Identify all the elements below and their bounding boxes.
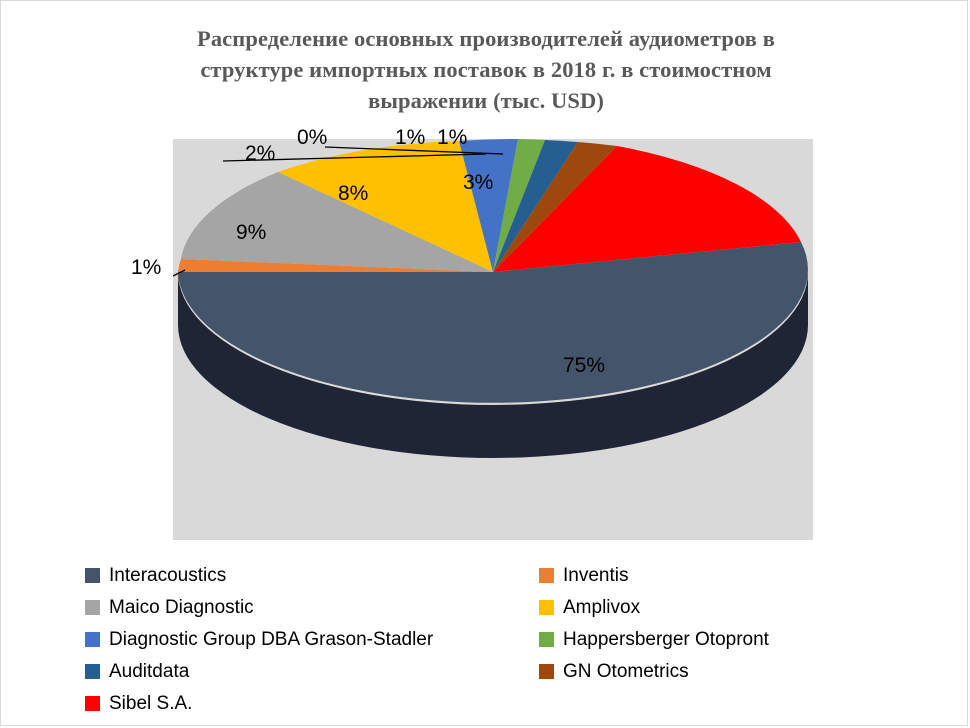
- legend-label: Auditdata: [109, 662, 189, 681]
- data-label-amplivox: 8%: [338, 182, 368, 206]
- legend-item-auditdata[interactable]: Auditdata: [85, 655, 535, 687]
- plot-area: 75% 1% 9% 8% 2% 0% 1% 1% 3%: [173, 139, 813, 540]
- data-label-auditdata: 1%: [395, 126, 425, 150]
- legend-item-grason-stadler[interactable]: Diagnostic Group DBA Grason-Stadler: [85, 623, 535, 655]
- legend-item-amplivox[interactable]: Amplivox: [539, 591, 939, 623]
- data-label-interacoustics: 75%: [563, 354, 605, 378]
- legend-swatch-icon: [539, 632, 554, 647]
- legend-swatch-icon: [539, 568, 554, 583]
- data-label-grason-stadler: 2%: [245, 142, 275, 166]
- data-label-sibel: 3%: [463, 171, 493, 195]
- legend-swatch-icon: [539, 600, 554, 615]
- data-label-happersberger: 0%: [297, 126, 327, 150]
- legend-swatch-icon: [85, 632, 100, 647]
- legend-label: Maico Diagnostic: [109, 598, 254, 617]
- chart-container: Распределение основных производителей ау…: [0, 0, 968, 726]
- legend-label: Interacoustics: [109, 566, 226, 585]
- data-label-gn-otometrics: 1%: [437, 126, 467, 150]
- legend-swatch-icon: [85, 696, 100, 711]
- legend-label: Diagnostic Group DBA Grason-Stadler: [109, 630, 433, 649]
- legend-label: GN Otometrics: [563, 662, 689, 681]
- legend-swatch-icon: [85, 664, 100, 679]
- legend-item-inventis[interactable]: Inventis: [539, 559, 939, 591]
- chart-title-line-2: структуре импортных поставок в 2018 г. в…: [111, 54, 861, 85]
- legend-item-maico-diagnostic[interactable]: Maico Diagnostic: [85, 591, 535, 623]
- legend-label: Amplivox: [563, 598, 640, 617]
- legend-label: Sibel S.A.: [109, 694, 192, 713]
- legend-item-gn-otometrics[interactable]: GN Otometrics: [539, 655, 939, 687]
- legend-swatch-icon: [85, 568, 100, 583]
- legend-column-left: Interacoustics Maico Diagnostic Diagnost…: [85, 559, 535, 719]
- pie-chart-3d: [173, 139, 813, 540]
- legend-swatch-icon: [85, 600, 100, 615]
- legend-item-happersberger[interactable]: Happersberger Otopront: [539, 623, 939, 655]
- legend-column-right: Inventis Amplivox Happersberger Otopront…: [539, 559, 939, 687]
- legend-swatch-icon: [539, 664, 554, 679]
- chart-title-line-3: выражении (тыс. USD): [111, 85, 861, 116]
- data-label-maico: 9%: [236, 221, 266, 245]
- legend-item-sibel[interactable]: Sibel S.A.: [85, 687, 535, 719]
- legend-item-interacoustics[interactable]: Interacoustics: [85, 559, 535, 591]
- legend-label: Inventis: [563, 566, 628, 585]
- legend-label: Happersberger Otopront: [563, 630, 769, 649]
- chart-title: Распределение основных производителей ау…: [111, 23, 861, 116]
- data-label-inventis: 1%: [131, 256, 161, 280]
- chart-title-line-1: Распределение основных производителей ау…: [111, 23, 861, 54]
